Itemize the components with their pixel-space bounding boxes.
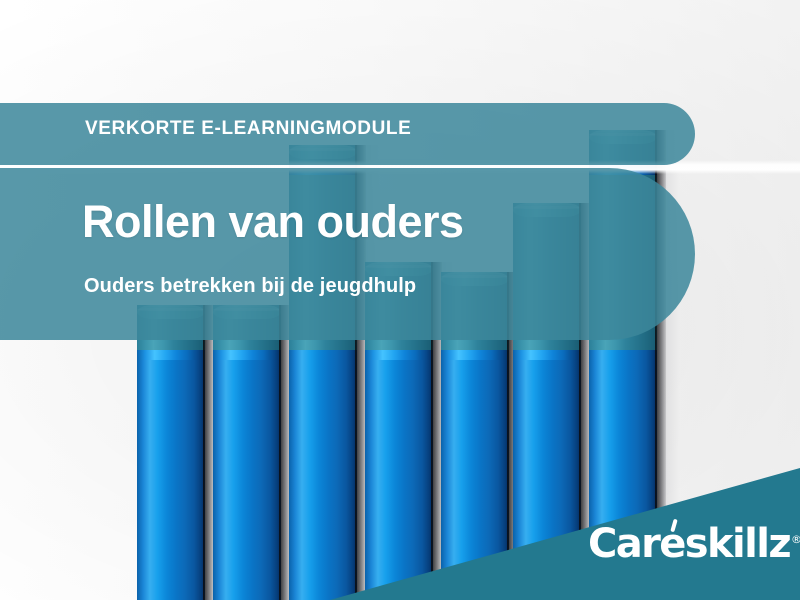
bar-5-highlight-ring: [441, 350, 509, 360]
careskillz-logo: Careskillz®: [588, 521, 800, 567]
kicker-label: VERKORTE E-LEARNINGMODULE: [85, 118, 411, 140]
page-subtitle: Ouders betrekken bij de jeugdhulp: [84, 275, 416, 298]
page-title: Rollen van ouders: [82, 196, 464, 248]
bar-6-highlight-ring: [513, 350, 581, 360]
bar-4-highlight-ring: [365, 350, 433, 360]
title-pill: [0, 168, 695, 340]
slide-canvas: VERKORTE E-LEARNINGMODULE Rollen van oud…: [0, 0, 800, 600]
logo-wordmark: Careskillz: [588, 521, 790, 567]
bar-1-highlight-ring: [137, 350, 205, 360]
bar-2-highlight-ring: [213, 350, 281, 360]
bar-1: [137, 305, 205, 600]
registered-trademark-icon: ®: [791, 533, 800, 546]
bar-2: [213, 305, 281, 600]
